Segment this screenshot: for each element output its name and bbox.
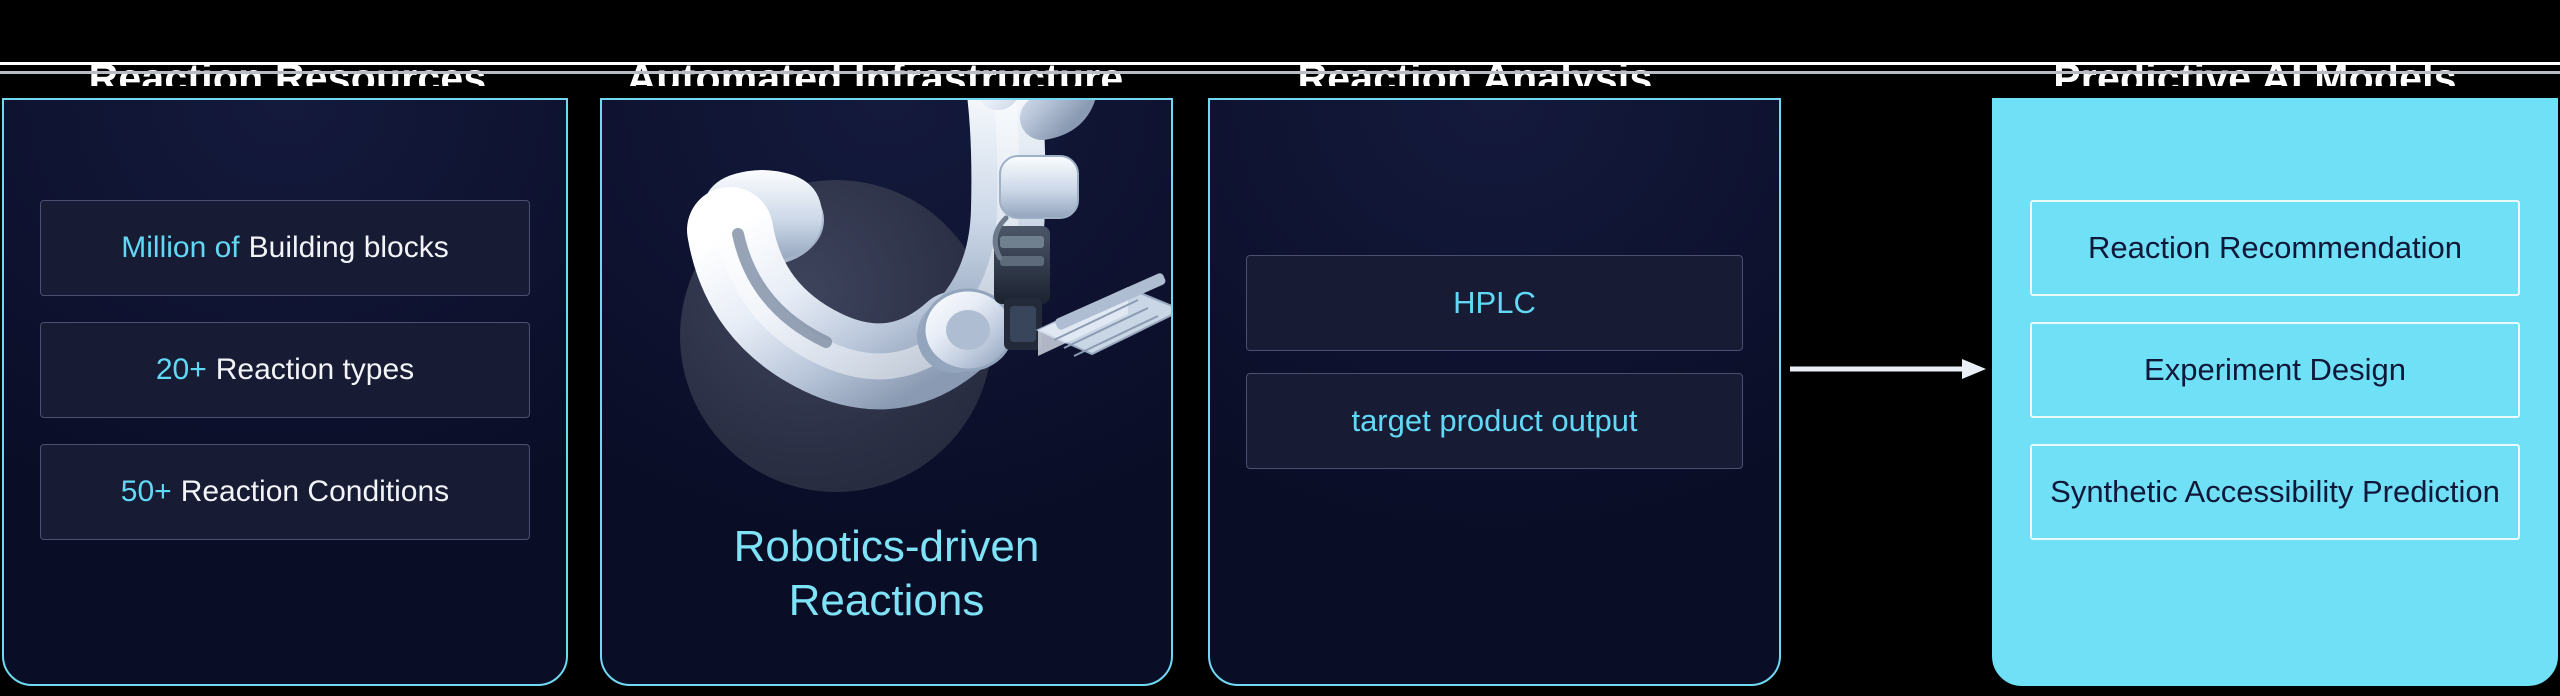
header-divider-secondary	[0, 71, 2560, 74]
diagram-canvas: Reaction Resources Automated Infrastruct…	[0, 0, 2560, 696]
resource-pill-stack: Million of Building blocks 20+ Reaction …	[40, 200, 530, 540]
pill-label: HPLC	[1453, 285, 1536, 321]
list-item[interactable]: 20+ Reaction types	[40, 322, 530, 418]
pill-label: Experiment Design	[2144, 352, 2406, 388]
list-item[interactable]: Synthetic Accessibility Prediction	[2030, 444, 2520, 540]
list-item[interactable]: Reaction Recommendation	[2030, 200, 2520, 296]
list-item[interactable]: HPLC	[1246, 255, 1743, 351]
panel-caption-line-2: Reactions	[626, 574, 1147, 628]
pill-label: Synthetic Accessibility Prediction	[2050, 474, 2500, 510]
pill-accent-text: 20+	[156, 353, 207, 387]
list-item[interactable]: target product output	[1246, 373, 1743, 469]
list-item[interactable]: Experiment Design	[2030, 322, 2520, 418]
pill-accent-text: 50+	[121, 475, 172, 509]
robot-arm-image	[602, 98, 1173, 450]
pill-label: Reaction Recommendation	[2088, 230, 2462, 266]
model-pill-stack: Reaction Recommendation Experiment Desig…	[2030, 200, 2520, 540]
pill-accent-text: Million of	[121, 231, 239, 265]
list-item[interactable]: Million of Building blocks	[40, 200, 530, 296]
pill-plain-text: Reaction types	[216, 353, 414, 387]
robot-arm-illustration	[602, 98, 1173, 450]
panel-caption-robotics: Robotics-driven Reactions	[626, 520, 1147, 627]
analysis-pill-stack: HPLC target product output	[1246, 255, 1743, 469]
panel-caption-line-1: Robotics-driven	[626, 520, 1147, 574]
list-item[interactable]: 50+ Reaction Conditions	[40, 444, 530, 540]
arrow-right-icon	[1790, 358, 1988, 380]
panel-reaction-resources: Million of Building blocks 20+ Reaction …	[2, 98, 568, 686]
panel-reaction-analysis: HPLC target product output	[1208, 98, 1781, 686]
pill-plain-text: Building blocks	[249, 231, 449, 265]
panel-predictive-ai-models: Reaction Recommendation Experiment Desig…	[1992, 98, 2558, 686]
panel-automated-infrastructure: Robotics-driven Reactions	[600, 98, 1173, 686]
pill-label: target product output	[1351, 403, 1637, 439]
pill-plain-text: Reaction Conditions	[181, 475, 450, 509]
header-divider-primary	[0, 62, 2560, 65]
